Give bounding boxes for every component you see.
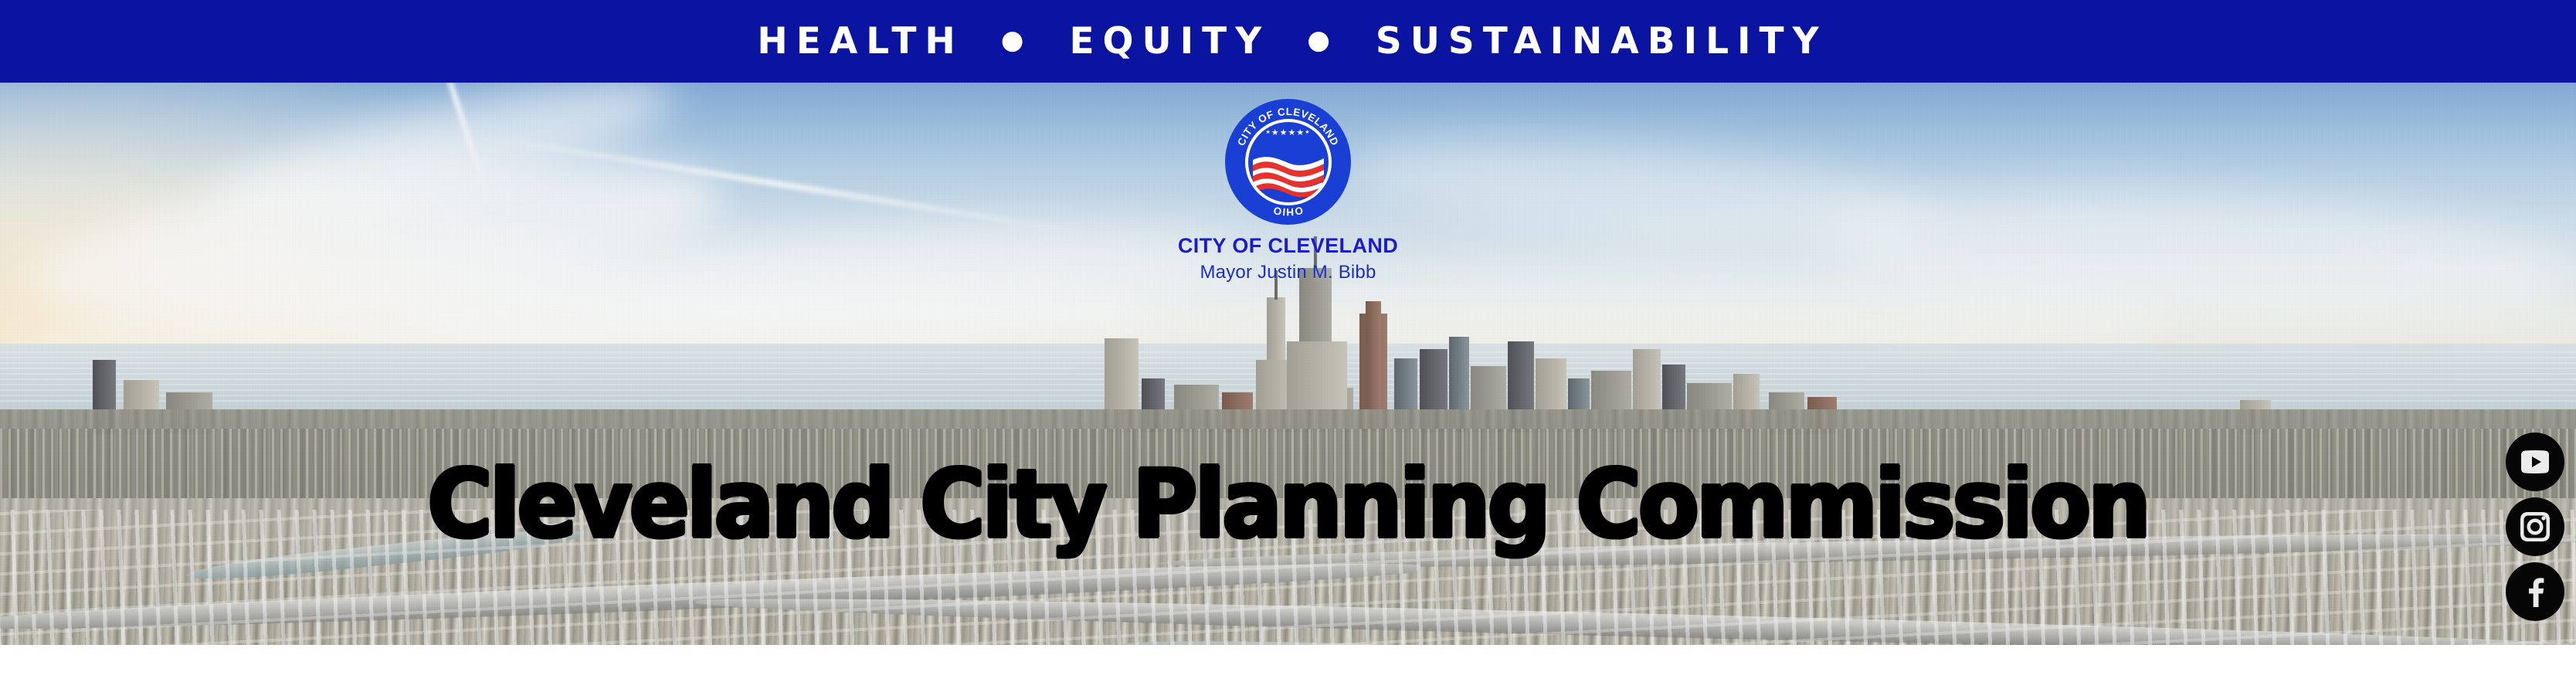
- svg-text:OHIO: OHIO: [1272, 205, 1305, 219]
- social-media-rail: [2506, 433, 2564, 621]
- city-name-label: CITY OF CLEVELAND: [1178, 236, 1398, 256]
- mayor-name-label: Mayor Justin M. Bibb: [1200, 263, 1376, 282]
- tagline-banner: HEALTH ● EQUITY ● SUSTAINABILITY: [0, 0, 2576, 83]
- tagline-separator-dot-1: ●: [964, 27, 1061, 53]
- seal-stars: ★★★★★★: [1248, 129, 1329, 137]
- youtube-icon[interactable]: [2506, 433, 2564, 491]
- seal-inner-field: ★★★★★★: [1248, 122, 1329, 202]
- page-title: Cleveland City Planning Commission: [83, 457, 2492, 551]
- tagline-inner: HEALTH ● EQUITY ● SUSTAINABILITY: [748, 23, 1827, 59]
- seal-waving-flag-icon: [1251, 153, 1325, 201]
- tagline-separator-dot-2: ●: [1270, 27, 1367, 53]
- tagline-word-equity: EQUITY: [1061, 23, 1270, 59]
- seal-inner-disc: ★★★★★★: [1245, 119, 1332, 205]
- facebook-icon[interactable]: [2506, 562, 2564, 621]
- city-of-cleveland-seal-icon: CITY OF CLEVELAND OHIO ★★★★★★: [1225, 99, 1351, 225]
- page-bottom-whitespace: [0, 645, 2576, 682]
- page-root: HEALTH ● EQUITY ● SUSTAINABILITY: [0, 0, 2576, 682]
- city-lockup: CITY OF CLEVELAND OHIO ★★★★★★: [0, 99, 2576, 282]
- tagline-word-health: HEALTH: [748, 23, 963, 59]
- tagline-word-sustainability: SUSTAINABILITY: [1367, 23, 1828, 59]
- instagram-icon[interactable]: [2506, 497, 2564, 556]
